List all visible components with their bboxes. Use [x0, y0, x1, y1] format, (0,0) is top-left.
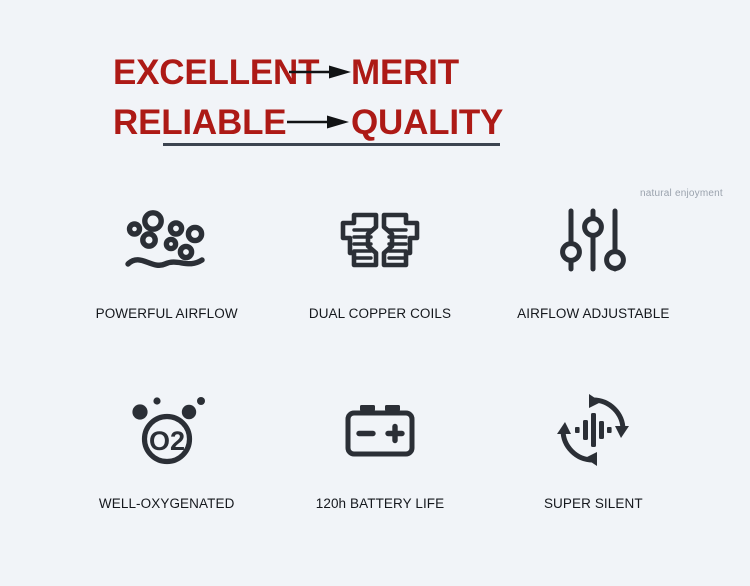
feature-item-battery-life: 120h BATTERY LIFE: [273, 382, 486, 572]
arrow-right-icon: [289, 65, 351, 79]
o2-bubbles-icon: O2: [127, 382, 207, 478]
headline-word-excellent: EXCELLENT: [113, 55, 289, 90]
feature-label: POWERFUL AIRFLOW: [96, 306, 238, 321]
feature-label: SUPER SILENT: [544, 496, 643, 511]
feature-label: AIRFLOW ADJUSTABLE: [517, 306, 669, 321]
bubbles-over-wave-icon: [124, 192, 210, 288]
headline-row-2: RELIABLE QUALITY: [113, 100, 673, 144]
headline-underline: [163, 143, 500, 146]
feature-item-well-oxygenated: O2 WELL-OXYGENATED: [60, 382, 273, 572]
feature-item-airflow-adjustable: AIRFLOW ADJUSTABLE: [487, 192, 700, 382]
battery-icon: [343, 382, 417, 478]
feature-grid: POWERFUL AIRFLOW: [60, 192, 700, 572]
svg-text:O2: O2: [149, 426, 185, 456]
arrow-right-icon: [279, 115, 351, 129]
headline-block: EXCELLENT MERIT RELIABLE QUALITY natural…: [113, 50, 673, 144]
feature-label: DUAL COPPER COILS: [309, 306, 451, 321]
feature-label: 120h BATTERY LIFE: [316, 496, 445, 511]
headline-word-merit: MERIT: [351, 55, 459, 90]
feature-item-powerful-airflow: POWERFUL AIRFLOW: [60, 192, 273, 382]
feature-item-dual-copper-coils: DUAL COPPER COILS: [273, 192, 486, 382]
feature-item-super-silent: SUPER SILENT: [487, 382, 700, 572]
silent-soundwave-icon: [557, 382, 629, 478]
headline-word-reliable: RELIABLE: [113, 105, 279, 140]
headline-word-quality: QUALITY: [351, 105, 503, 140]
feature-label: WELL-OXYGENATED: [99, 496, 235, 511]
dual-coils-icon: [338, 192, 422, 288]
sliders-icon: [560, 192, 626, 288]
headline-row-1: EXCELLENT MERIT: [113, 50, 673, 94]
